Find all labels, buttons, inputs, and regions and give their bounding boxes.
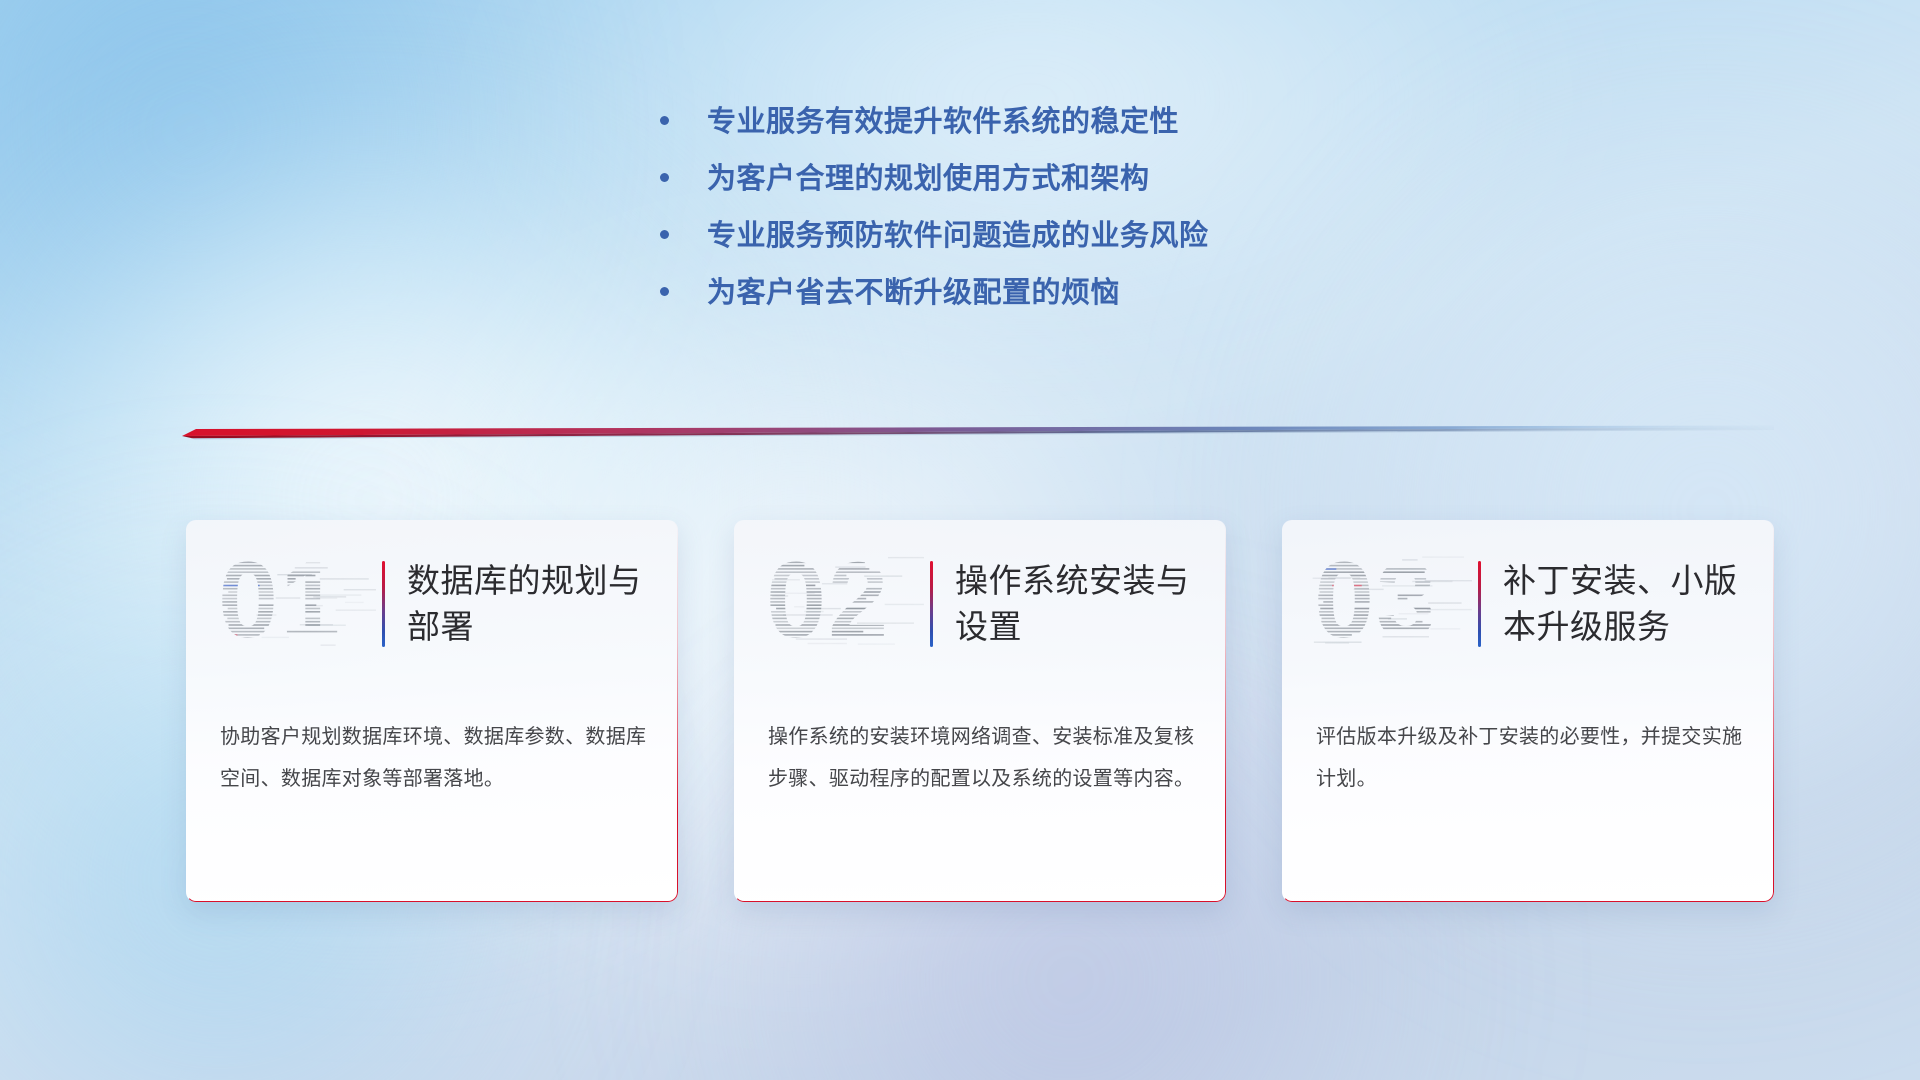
- card-divider-bar-icon: [1478, 561, 1481, 647]
- bullet-dot-icon: [660, 116, 669, 125]
- service-card[interactable]: 03补丁安装、小版本升级服务评估版本升级及补丁安装的必要性，并提交实施计划。: [1282, 520, 1774, 902]
- card-divider-bar-icon: [930, 561, 933, 647]
- feature-bullet-list: 专业服务有效提升软件系统的稳定性为客户合理的规划使用方式和架构专业服务预防软件问…: [660, 108, 1480, 336]
- bullet-label: 为客户合理的规划使用方式和架构: [707, 165, 1150, 194]
- service-card-row: 01数据库的规划与部署协助客户规划数据库环境、数据库参数、数据库空间、数据库对象…: [186, 520, 1776, 908]
- card-header: 02操作系统安装与设置: [734, 520, 1226, 688]
- card-number-glitch-icon: 03: [1312, 545, 1472, 655]
- card-number-glitch-icon: 01: [216, 545, 376, 655]
- card-description: 操作系统的安装环境网络调查、安装标准及复核步骤、驱动程序的配置以及系统的设置等内…: [768, 716, 1196, 800]
- bullet-item: 专业服务预防软件问题造成的业务风险: [660, 222, 1480, 251]
- card-number-glitch-icon: 02: [764, 545, 924, 655]
- bullet-label: 专业服务预防软件问题造成的业务风险: [707, 222, 1209, 251]
- service-card[interactable]: 01数据库的规划与部署协助客户规划数据库环境、数据库参数、数据库空间、数据库对象…: [186, 520, 678, 902]
- card-description: 协助客户规划数据库环境、数据库参数、数据库空间、数据库对象等部署落地。: [220, 716, 648, 800]
- card-number: 01: [216, 545, 376, 655]
- background-glow-top-left: [0, 0, 600, 520]
- service-card[interactable]: 02操作系统安装与设置操作系统的安装环境网络调查、安装标准及复核步骤、驱动程序的…: [734, 520, 1226, 902]
- bullet-dot-icon: [660, 173, 669, 182]
- bullet-label: 为客户省去不断升级配置的烦恼: [707, 279, 1120, 308]
- card-header: 03补丁安装、小版本升级服务: [1282, 520, 1774, 688]
- bullet-item: 为客户合理的规划使用方式和架构: [660, 165, 1480, 194]
- bullet-item: 为客户省去不断升级配置的烦恼: [660, 279, 1480, 308]
- card-title: 操作系统安装与设置: [955, 558, 1192, 649]
- card-divider-bar-icon: [382, 561, 385, 647]
- card-title: 补丁安装、小版本升级服务: [1503, 558, 1740, 649]
- bullet-dot-icon: [660, 230, 669, 239]
- bullet-label: 专业服务有效提升软件系统的稳定性: [707, 108, 1179, 137]
- card-number: 03: [1312, 545, 1472, 655]
- card-number: 02: [764, 545, 924, 655]
- bullet-dot-icon: [660, 287, 669, 296]
- bullet-item: 专业服务有效提升软件系统的稳定性: [660, 108, 1480, 137]
- card-description: 评估版本升级及补丁安装的必要性，并提交实施计划。: [1316, 716, 1744, 800]
- card-header: 01数据库的规划与部署: [186, 520, 678, 688]
- card-title: 数据库的规划与部署: [407, 558, 644, 649]
